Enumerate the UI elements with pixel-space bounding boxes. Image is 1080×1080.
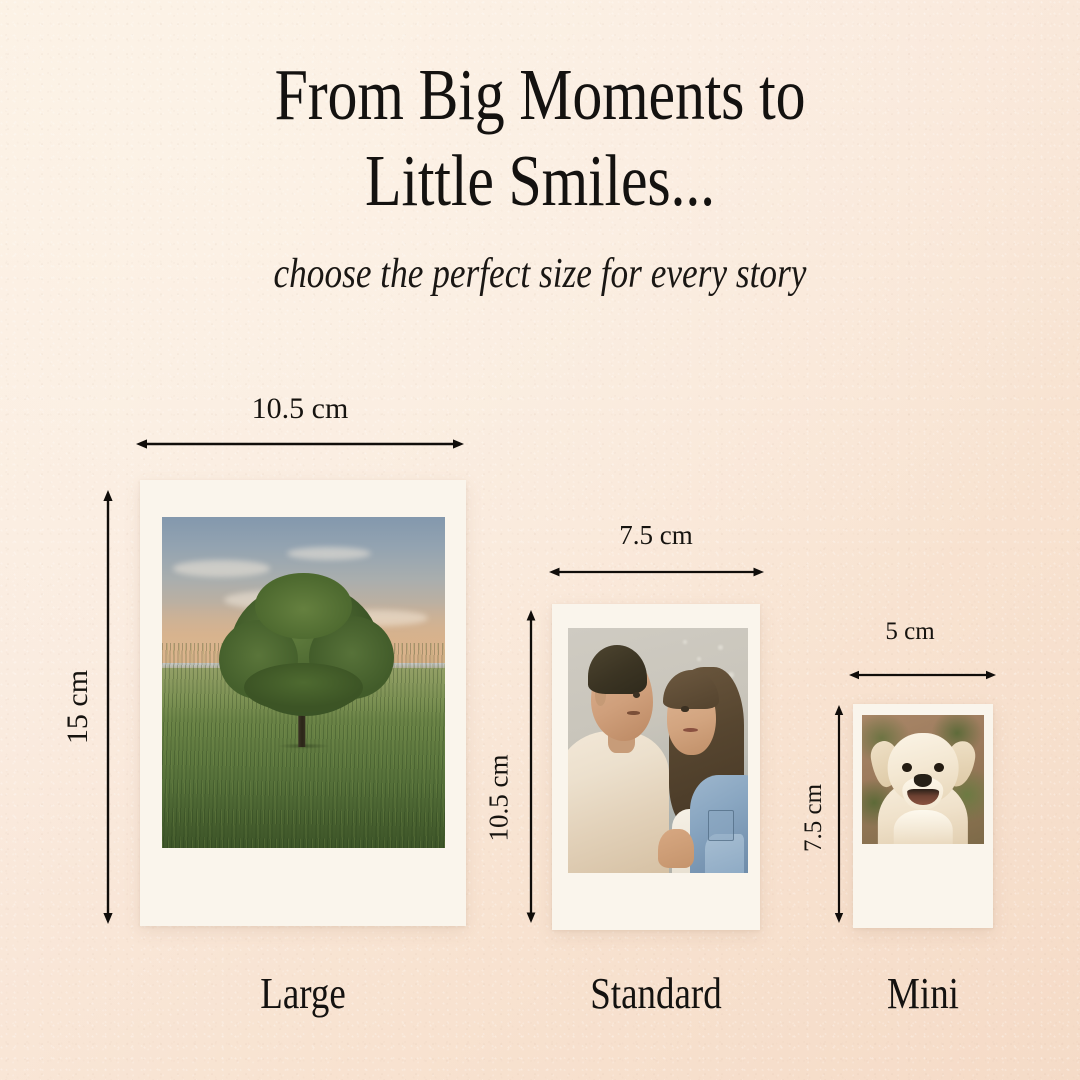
mini-height-label: 7.5 cm (800, 784, 828, 852)
standard-height-arrow (523, 610, 539, 923)
large-width-arrow (136, 436, 464, 452)
polaroid-standard[interactable] (552, 604, 760, 930)
page-title: From Big Moments to Little Smiles... (97, 52, 983, 224)
mini-width-label: 5 cm (885, 618, 934, 646)
large-height-label: 15 cm (61, 670, 95, 744)
polaroid-mini[interactable] (853, 704, 993, 928)
mini-width-arrow (849, 667, 996, 683)
caption-mini: Mini (887, 968, 959, 1019)
standard-width-label: 7.5 cm (619, 520, 693, 551)
large-width-label: 10.5 cm (252, 392, 349, 426)
photo-large-tree (162, 517, 445, 848)
page-subtitle: choose the perfect size for every story (86, 249, 993, 299)
poster-canvas: From Big Moments to Little Smiles... cho… (0, 0, 1080, 1080)
caption-standard: Standard (590, 968, 721, 1019)
photo-mini-puppy (862, 715, 984, 844)
caption-large: Large (260, 968, 346, 1019)
standard-height-label: 10.5 cm (484, 755, 515, 842)
polaroid-large[interactable] (140, 480, 466, 926)
photo-standard-couple (568, 628, 748, 873)
mini-height-arrow (831, 705, 847, 923)
large-height-arrow (100, 490, 116, 924)
standard-width-arrow (549, 564, 764, 580)
